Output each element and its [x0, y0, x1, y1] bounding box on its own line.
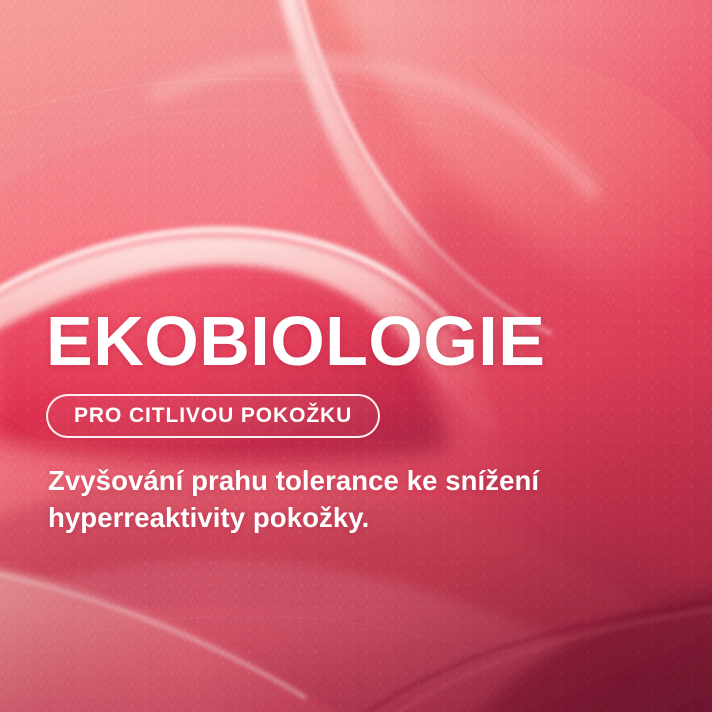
- mass-bottom-right: [470, 586, 712, 712]
- fold-highlight-bottom-right: [382, 608, 712, 712]
- sheet-upper-right: [330, 0, 712, 348]
- ribbon-highlight-centre: [300, 0, 552, 334]
- banner-content: EKOBIOLOGIE PRO CITLIVOU POKOŽKU Zvyšová…: [46, 302, 666, 536]
- fold-edge-bottom-right: [352, 600, 712, 712]
- wave-top-left-field: [0, 0, 430, 300]
- wave-lower-secondary: [0, 560, 712, 712]
- fold-arc-top: [150, 63, 596, 196]
- banner-subtitle: Zvyšování prahu tolerance ke snížení hyp…: [48, 462, 593, 536]
- band-bottom-left-edge: [0, 572, 306, 698]
- ekobiologie-banner: EKOBIOLOGIE PRO CITLIVOU POKOŽKU Zvyšová…: [0, 0, 712, 712]
- status-badge: PRO CITLIVOU POKOŽKU: [46, 394, 380, 438]
- page-title: EKOBIOLOGIE: [46, 302, 666, 380]
- ribbon-vertical-centre: [278, 0, 548, 335]
- wave-top-right-field: [300, 0, 712, 330]
- band-bottom-left: [0, 566, 352, 712]
